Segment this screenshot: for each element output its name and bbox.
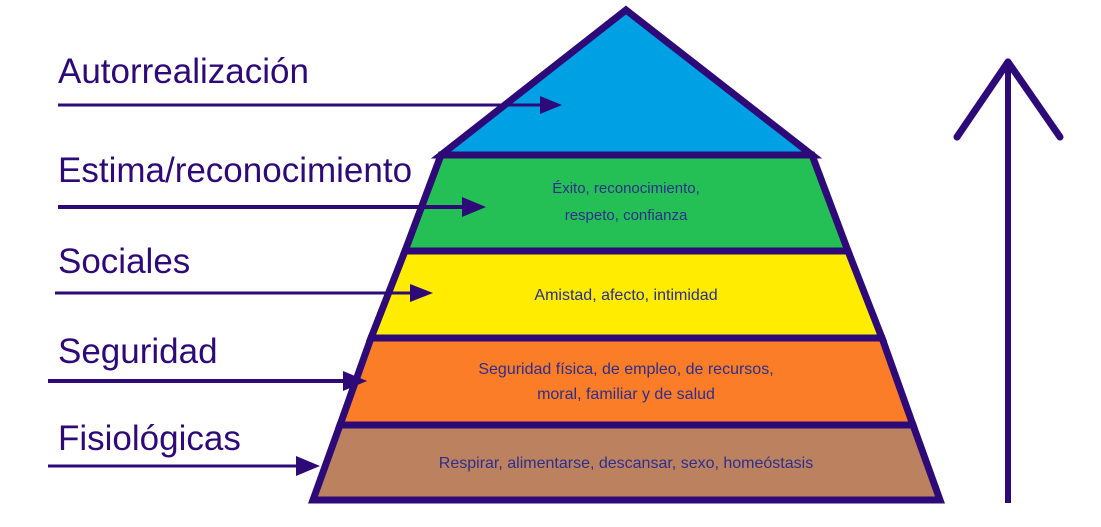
pyramid-level-self-actualization-shape	[441, 10, 812, 155]
pyramid-level-physiological-line-0: Respirar, alimentarse, descansar, sexo, …	[439, 455, 813, 472]
pointer-arrow-sociales	[55, 284, 433, 302]
side-label-autorrealizacion: Autorrealización	[58, 52, 309, 91]
pyramid-level-self-actualization[interactable]	[441, 10, 812, 155]
pyramid-level-safety-shape	[340, 338, 913, 425]
pyramid-level-esteem-line-0: Éxito, reconocimiento,	[552, 180, 700, 197]
pyramid-level-safety-line-0: Seguridad física, de empleo, de recursos…	[478, 361, 773, 378]
pointer-arrow-fisiologicas	[48, 456, 320, 476]
pyramid-level-social-line-0: Amistad, afecto, intimidad	[534, 287, 717, 304]
diagram-canvas: Respirar, alimentarse, descansar, sexo, …	[0, 0, 1101, 527]
pointer-arrow-seguridad	[48, 371, 367, 391]
pyramid-level-esteem-line-1: respeto, confianza	[565, 207, 688, 224]
side-label-estima-reconocimiento: Estima/reconocimiento	[58, 151, 412, 190]
side-label-seguridad: Seguridad	[58, 332, 218, 371]
side-label-sociales: Sociales	[58, 242, 190, 281]
ascending-progression-arrow	[957, 62, 1060, 503]
pyramid-level-safety[interactable]: Seguridad física, de empleo, de recursos…	[340, 338, 913, 425]
pyramid-level-safety-line-1: moral, familiar y de salud	[537, 386, 715, 403]
side-label-fisiologicas: Fisiológicas	[58, 419, 241, 458]
maslow-pyramid-diagram: Respirar, alimentarse, descansar, sexo, …	[0, 0, 1101, 527]
pointer-arrow-autorrealizacion	[58, 96, 562, 114]
pyramid-level-social[interactable]: Amistad, afecto, intimidad	[371, 251, 882, 338]
pyramid-level-physiological[interactable]: Respirar, alimentarse, descansar, sexo, …	[313, 425, 940, 500]
